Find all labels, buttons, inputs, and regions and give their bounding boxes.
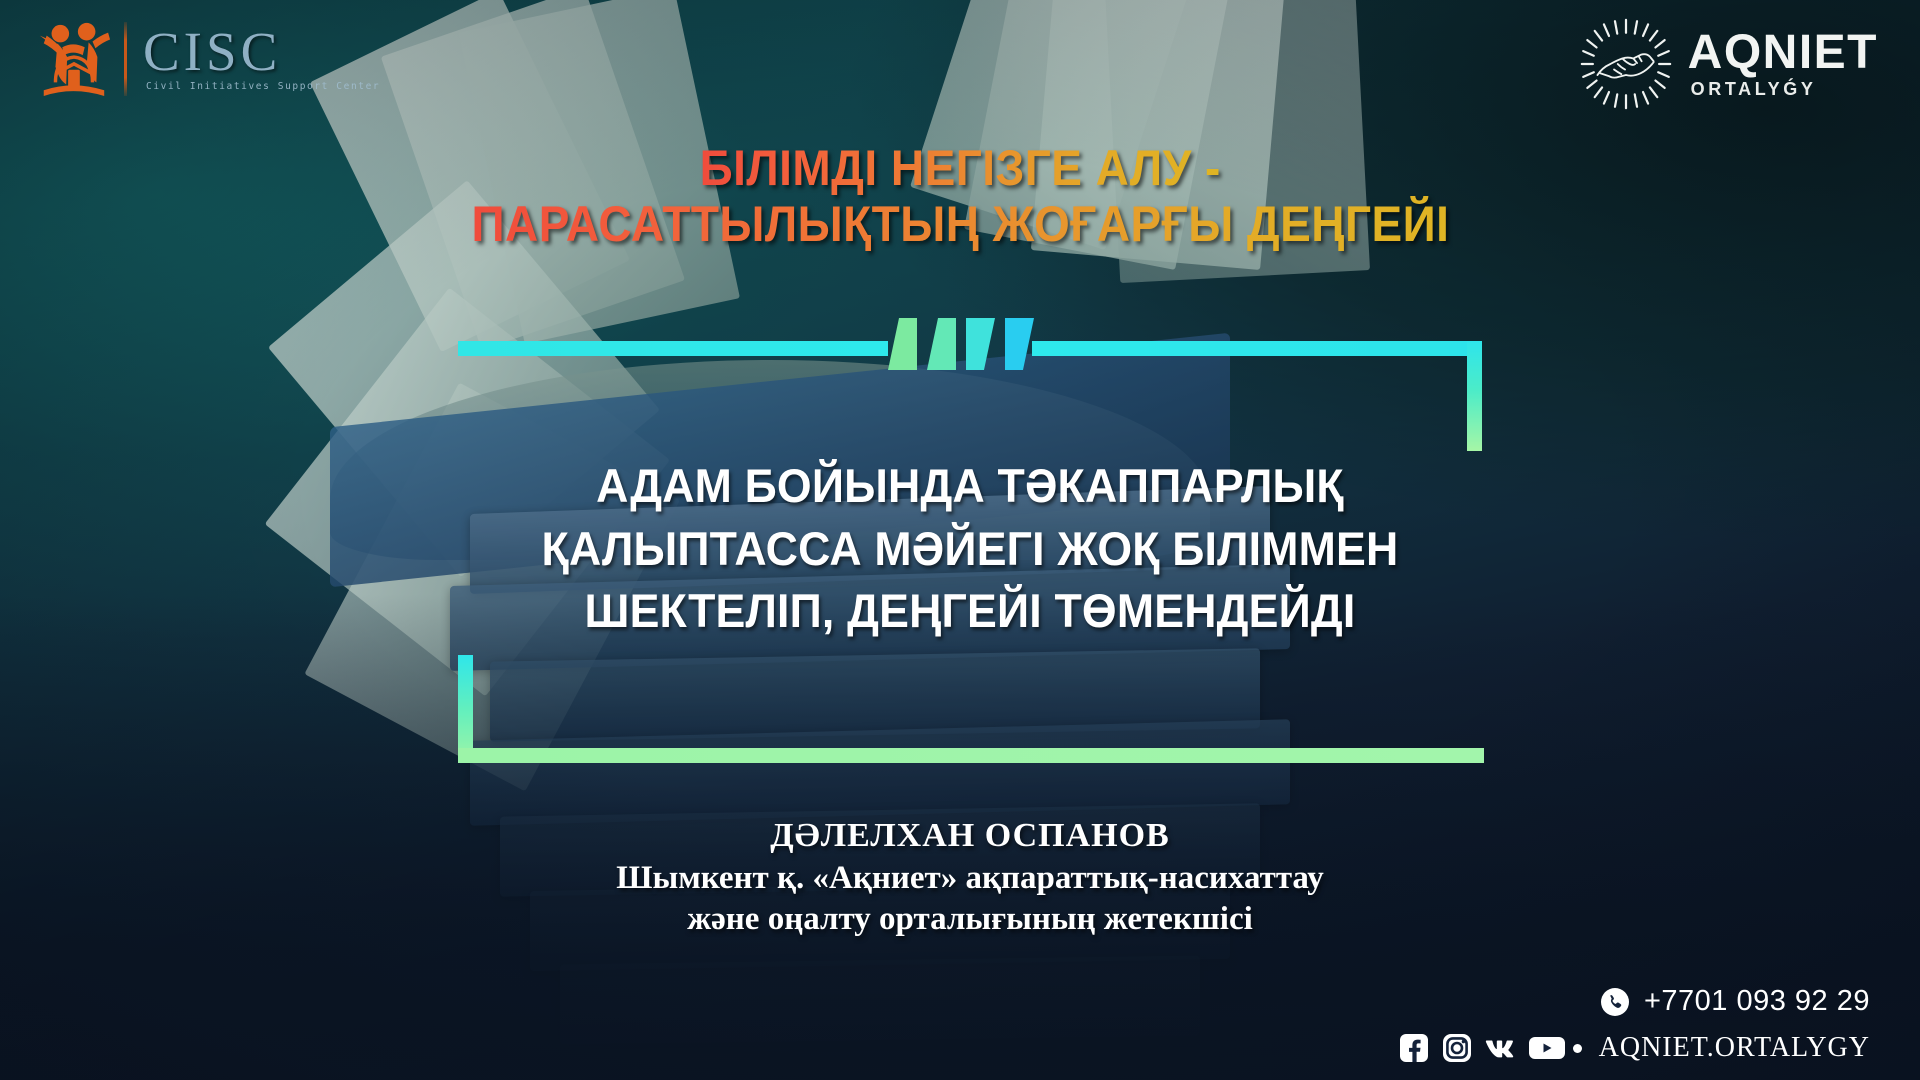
poster-headline: БІЛІМДІ НЕГІЗГЕ АЛУ - ПАРАСАТТЫЛЫҚТЫҢ ЖО… [0, 140, 1920, 252]
cisc-tagline: Civil Initiatives Support Center [143, 81, 380, 92]
headline-line-2: ПАРАСАТТЫЛЫҚТЫҢ ЖОҒАРҒЫ ДЕҢГЕЙІ [471, 196, 1449, 252]
vk-icon[interactable] [1485, 1033, 1515, 1063]
handshake-rays-icon [1580, 18, 1672, 110]
youtube-icon[interactable] [1528, 1033, 1558, 1063]
headline-line-1: БІЛІМДІ НЕГІЗГЕ АЛУ - [699, 140, 1220, 196]
poster-canvas: CISC Civil Initiatives Support Center [0, 0, 1920, 1080]
cisc-people-house-icon [34, 16, 112, 102]
cisc-wordmark: CISC [143, 26, 380, 78]
author-attribution: ДӘЛЕЛХАН ОСПАНОВ Шымкент қ. «Ақниет» ақп… [300, 815, 1640, 940]
quote-line-1: АДАМ БОЙЫНДА ТӘКАППАРЛЫҚ [429, 455, 1512, 518]
phone-number[interactable]: +7701 093 92 29 [1644, 985, 1870, 1018]
author-role-line-2: және оңалту орталығының жетекшісі [300, 899, 1640, 940]
quote-line-3: ШЕКТЕЛІП, ДЕҢГЕЙІ ТӨМЕНДЕЙДІ [429, 580, 1512, 643]
author-role-line-1: Шымкент қ. «Ақниет» ақпараттық-насихатта… [300, 858, 1640, 899]
social-handle[interactable]: AQNIET.ORTALYGY [1599, 1032, 1870, 1064]
stacked-book [560, 956, 1200, 1045]
aqniet-subtitle: ORTALYǴY [1691, 79, 1817, 100]
instagram-icon[interactable] [1442, 1033, 1472, 1063]
bullet-separator [1573, 1044, 1582, 1053]
social-links-row: AQNIET.ORTALYGY [1399, 1032, 1870, 1064]
quote-text: АДАМ БОЙЫНДА ТӘКАППАРЛЫҚ ҚАЛЫПТАССА МӘЙЕ… [400, 455, 1540, 643]
phone-icon [1600, 987, 1630, 1017]
cisc-logo: CISC Civil Initiatives Support Center [34, 16, 380, 102]
cisc-logo-divider [124, 22, 127, 96]
contact-phone-row: +7701 093 92 29 [1600, 985, 1870, 1018]
author-name: ДӘЛЕЛХАН ОСПАНОВ [300, 815, 1640, 858]
facebook-icon[interactable] [1399, 1033, 1429, 1063]
aqniet-logo: AQNIET ORTALYǴY [1580, 18, 1878, 110]
aqniet-wordmark: AQNIET [1688, 29, 1878, 77]
quote-line-2: ҚАЛЫПТАССА МӘЙЕГІ ЖОҚ БІЛІММЕН [429, 518, 1512, 581]
